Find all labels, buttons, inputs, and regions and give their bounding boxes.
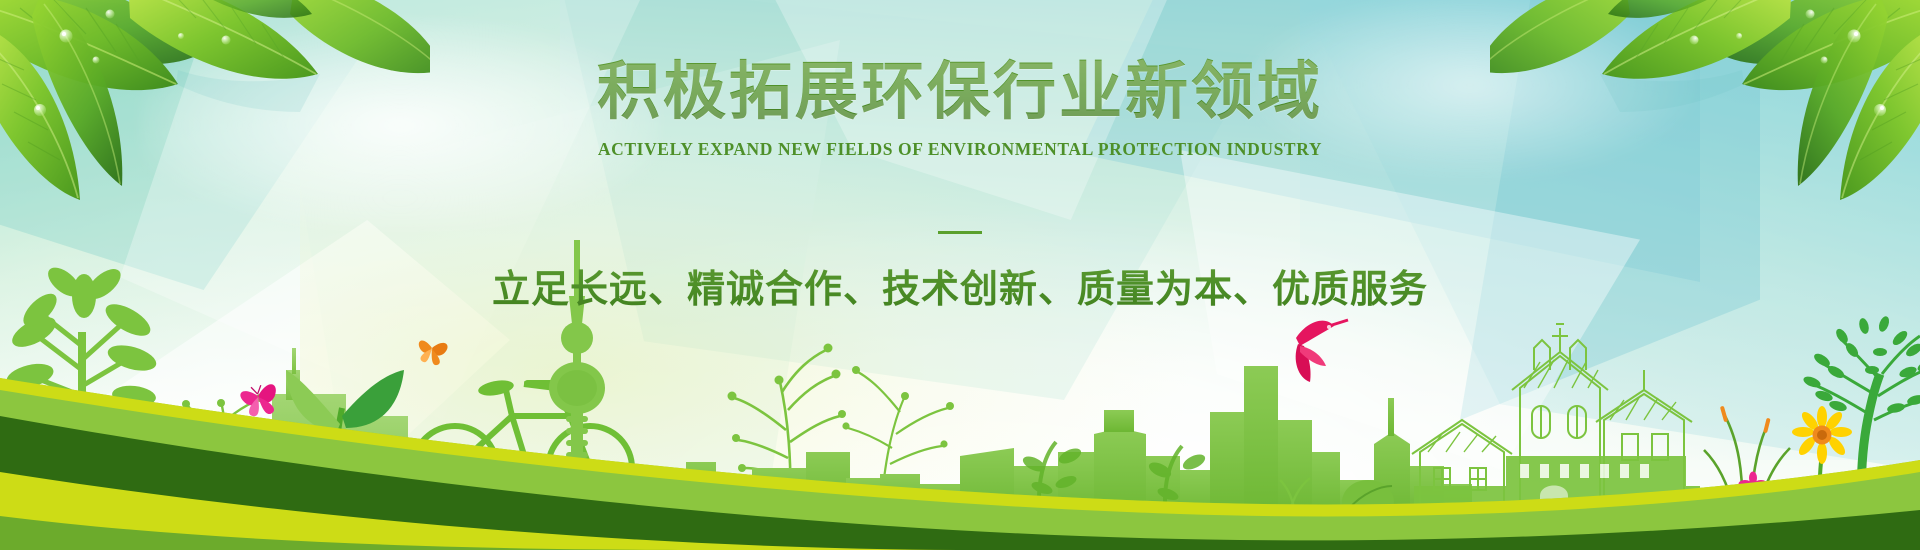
tagline: 立足长远、精诚合作、技术创新、质量为本、优质服务	[0, 258, 1920, 313]
page-title: 积极拓展环保行业新领域	[0, 57, 1920, 128]
eco-banner: 积极拓展环保行业新领域 ACTIVELY EXPAND NEW FIELDS O…	[0, 0, 1920, 550]
divider-rule	[938, 231, 982, 234]
subtitle-english: ACTIVELY EXPAND NEW FIELDS OF ENVIRONMEN…	[0, 139, 1920, 160]
wave-bands	[0, 320, 1920, 550]
